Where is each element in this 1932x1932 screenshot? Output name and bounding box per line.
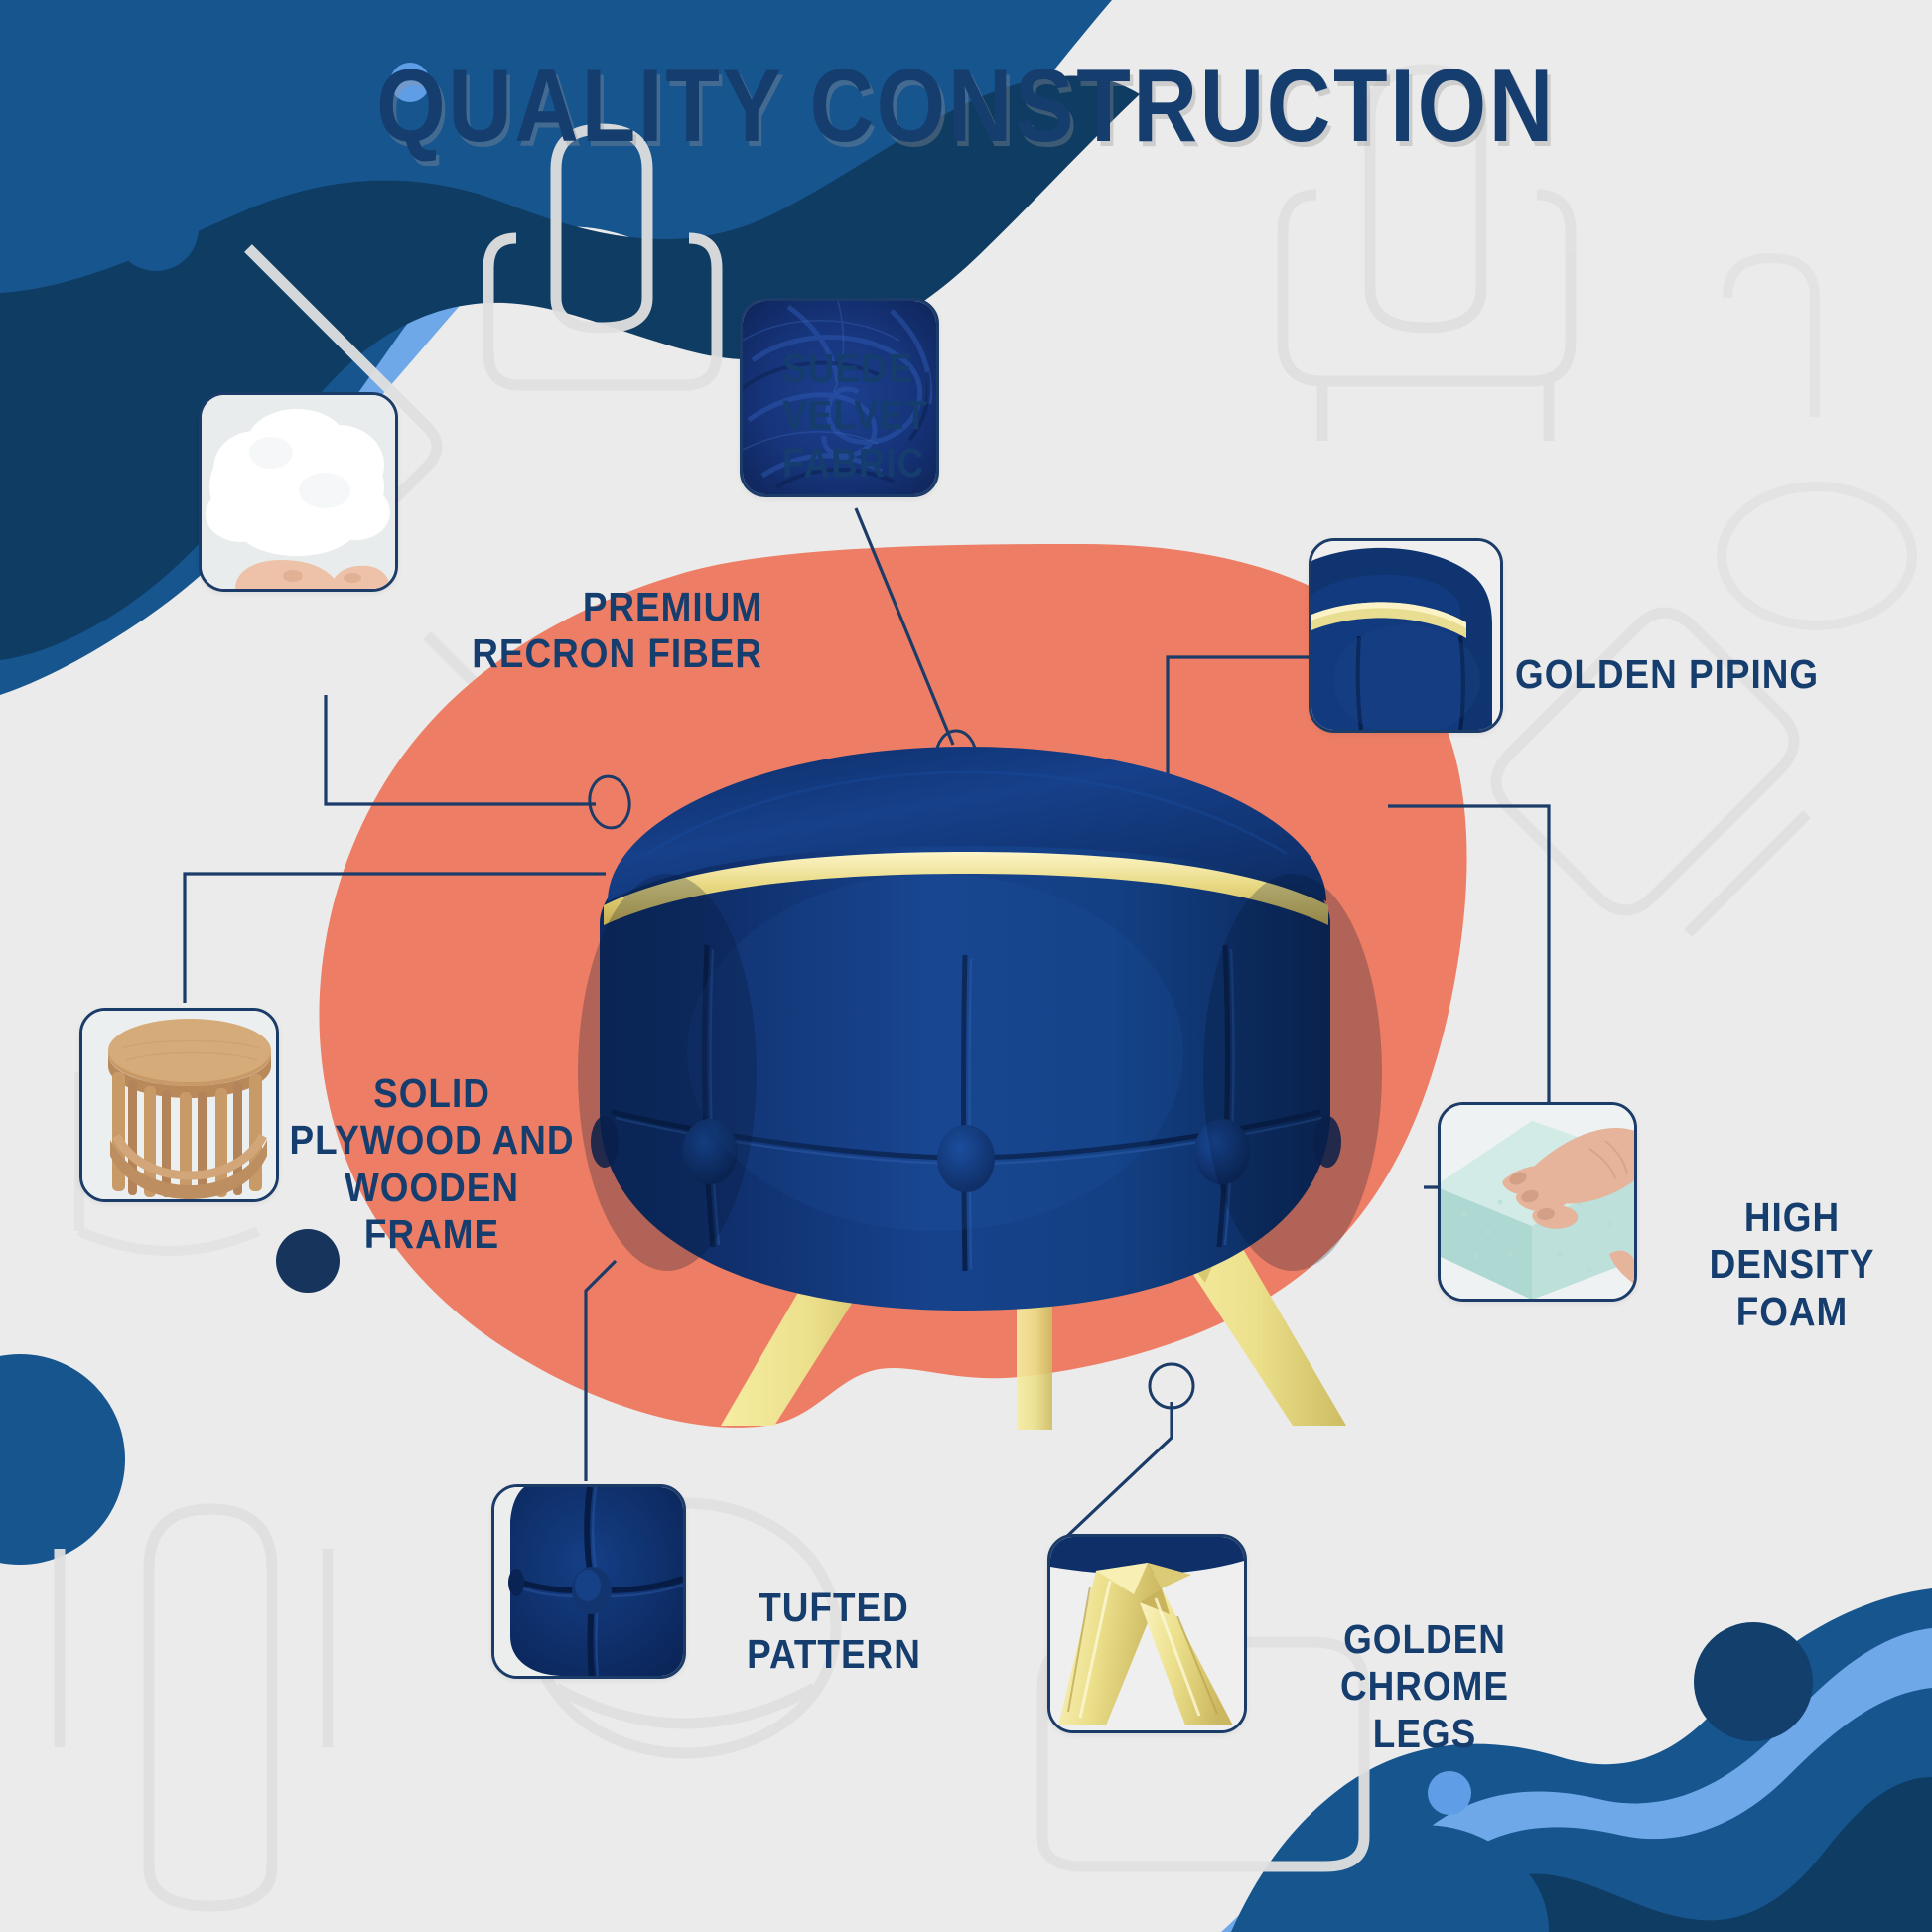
wooden-frame-swatch [82,1011,276,1199]
label-high-density-foam-text: HIGH DENSITY FOAM [1710,1194,1875,1334]
label-suede-velvet-fabric: SUEDE VELVET FABRIC [782,298,1033,534]
thumbnail-golden-chrome-legs[interactable] [1047,1534,1247,1733]
label-golden-piping-text: GOLDEN PIPING [1515,651,1819,697]
high-density-foam-swatch [1441,1105,1634,1299]
label-golden-piping: GOLDEN PIPING [1515,604,1890,698]
label-premium-recron-fiber: PREMIUM RECRON FIBER [450,536,762,678]
thumbnail-premium-recron-fiber[interactable] [199,392,398,592]
thumbnail-wooden-frame[interactable] [79,1008,279,1202]
page-title: QUALITY CONSTRUCTION [135,48,1797,166]
label-solid-plywood-wooden-frame: SOLID PLYWOOD AND WOODEN FRAME [285,1023,580,1259]
infographic-canvas: SUEDE VELVET FABRIC PREMIUM RECRON FIBER… [0,0,1932,1932]
thumbnail-high-density-foam[interactable] [1438,1102,1637,1302]
recron-fiber-swatch [202,395,395,589]
label-golden-chrome-legs-text: GOLDEN CHROME LEGS [1340,1616,1509,1756]
product-image-ottoman [508,675,1422,1430]
label-solid-plywood-wooden-frame-text: SOLID PLYWOOD AND WOODEN FRAME [290,1070,575,1258]
golden-piping-swatch [1311,541,1500,730]
golden-chrome-legs-swatch [1050,1537,1244,1730]
thumbnail-golden-piping[interactable] [1309,538,1503,733]
label-golden-chrome-legs: GOLDEN CHROME LEGS [1273,1569,1577,1757]
label-tufted-pattern-text: TUFTED PATTERN [747,1585,921,1678]
label-high-density-foam: HIGH DENSITY FOAM [1663,1147,1922,1335]
tufted-pattern-swatch [494,1487,683,1676]
label-tufted-pattern: TUFTED PATTERN [709,1537,959,1679]
label-suede-velvet-fabric-text: SUEDE VELVET FABRIC [782,345,1033,487]
thumbnail-tufted-pattern[interactable] [491,1484,686,1679]
label-premium-recron-fiber-text: PREMIUM RECRON FIBER [472,584,762,677]
